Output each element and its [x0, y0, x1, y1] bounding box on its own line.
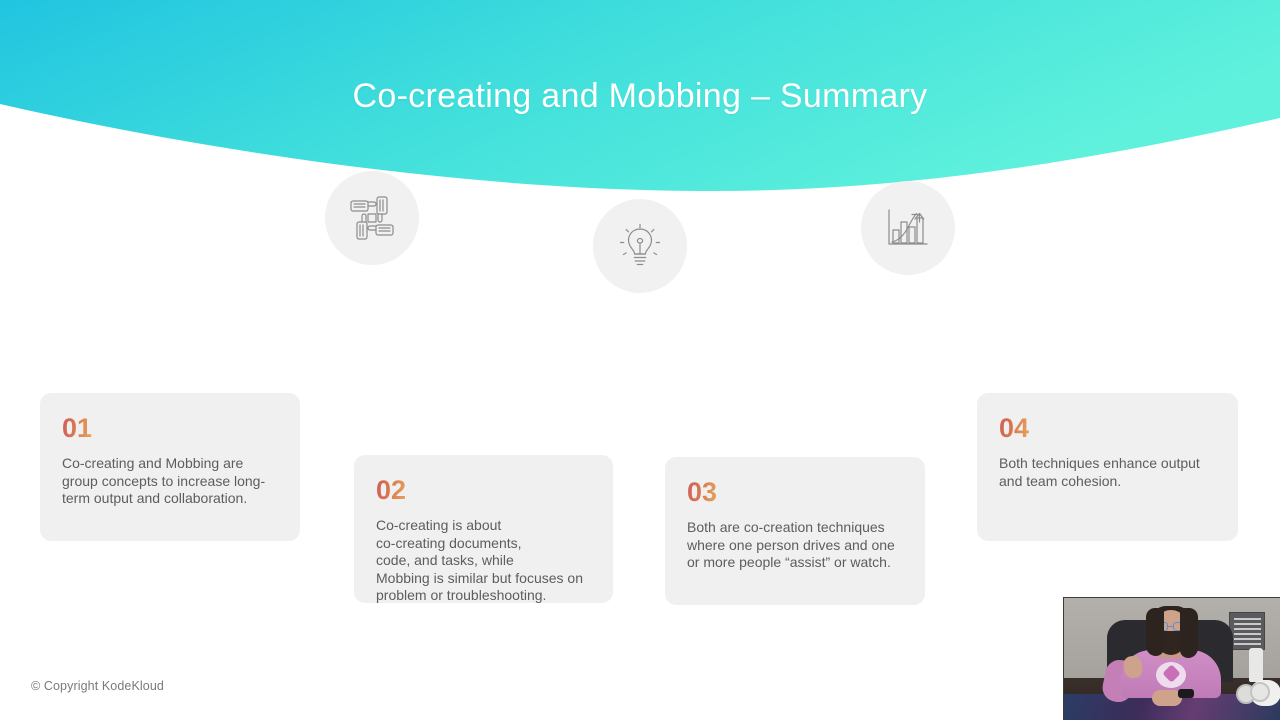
summary-card: 03 Both are co-creation techniques where… — [665, 457, 925, 605]
webcam-hair-left — [1146, 608, 1164, 656]
slide-canvas: Co-creating and Mobbing – Summary — [0, 0, 1280, 720]
card-number: 01 — [62, 413, 92, 443]
summary-card: 04 Both techniques enhance output and te… — [977, 393, 1238, 541]
webcam-hair-right — [1180, 608, 1198, 658]
growth-chart-icon — [861, 181, 955, 275]
webcam-glasses-bridge — [1168, 626, 1173, 627]
webcam-bottle — [1249, 648, 1263, 682]
card-text: Both techniques enhance output and team … — [999, 455, 1216, 490]
card-number: 04 — [999, 413, 1029, 443]
card-text: Co-creating is about co-creating documen… — [376, 517, 591, 605]
card-text: Co-creating and Mobbing are group concep… — [62, 455, 278, 508]
webcam-paper-roll-end-b — [1250, 682, 1270, 702]
card-text: Both are co-creation techniques where on… — [687, 519, 903, 572]
summary-card: 02 Co-creating is about co-creating docu… — [354, 455, 613, 603]
webcam-wall-poster — [1229, 612, 1265, 650]
copyright-notice: © Copyright KodeKloud — [31, 679, 164, 693]
page-title: Co-creating and Mobbing – Summary — [0, 74, 1280, 118]
card-number: 03 — [687, 477, 717, 507]
summary-card: 01 Co-creating and Mobbing are group con… — [40, 393, 300, 541]
webcam-wristwatch — [1178, 689, 1194, 698]
card-number: 02 — [376, 475, 406, 505]
lightbulb-icon — [593, 199, 687, 293]
presenter-webcam-overlay[interactable] — [1063, 597, 1280, 720]
teamwork-hands-icon — [325, 171, 419, 265]
